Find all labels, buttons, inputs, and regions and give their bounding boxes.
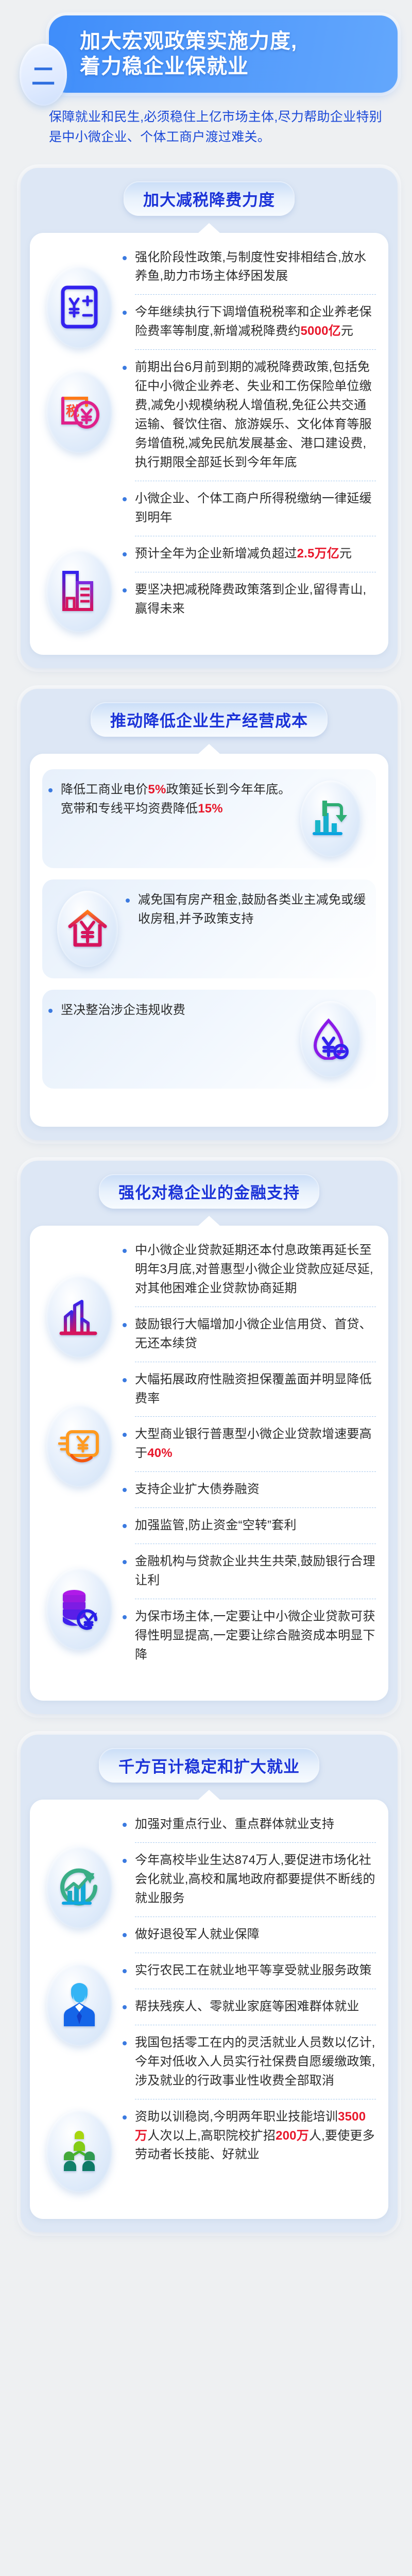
bullet-item: 加强对重点行业、重点群体就业支持 — [121, 1815, 376, 1834]
bullet-item: 金融机构与贷款企业共生共荣,鼓励银行合理让利 — [121, 1552, 376, 1590]
bullet-highlight: 5000亿 — [300, 324, 340, 338]
bullet-item: 实行农民工在就业地平等享受就业服务政策 — [121, 1961, 376, 1980]
section-title: 千方百计稳定和扩大就业 — [118, 1754, 300, 1777]
bullet-text: 我国包括零工在内的灵活就业人员数以亿计,今年对低收入人员实行社保费自愿缓缴政策,… — [135, 2036, 375, 2088]
bullet-divider — [135, 572, 376, 572]
bullet-highlight-2: 200万 — [276, 2129, 309, 2143]
bullet-item: 要坚决把减税降费政策落到企业,留得青山,赢得未来 — [121, 581, 376, 619]
bullet-item: 支持企业扩大债券融资 — [121, 1480, 376, 1499]
bullet-text: 帮扶残疾人、零就业家庭等困难群体就业 — [135, 1999, 359, 2013]
icon-column — [42, 1961, 121, 2091]
bullet-divider — [135, 1917, 376, 1917]
bullet-item: 大型商业银行普惠型小微企业贷款增速要高于40% — [121, 1425, 376, 1463]
bullet-highlight-2: 15% — [198, 802, 223, 816]
text-column: 大型商业银行普惠型小微企业贷款增速要高于40% 支持企业扩大债券融资 加强监管,… — [121, 1425, 376, 1535]
bullet-item: 鼓励银行大幅增加小微企业信用贷、首贷、无还本续贷 — [121, 1315, 376, 1353]
bullet-text: 做好退役军人就业保障 — [135, 1927, 260, 1941]
bullet-text: 鼓励银行大幅增加小微企业信用贷、首贷、无还本续贷 — [135, 1317, 372, 1350]
house-yen-icon — [57, 891, 118, 967]
bullet-text: 中小微企业贷款延期还本付息政策再延长至明年3月底,对普惠型小微企业贷款应延尽延,… — [135, 1243, 373, 1295]
leaf-yen-minus-icon — [300, 1001, 361, 1077]
bullet-text-tail: 元 — [341, 324, 353, 338]
bullet-text: 为保市场主体,一定要让中小微企业贷款可获得性明显提高,一定要让综合融资成本明显下… — [135, 1609, 375, 1662]
text-column: 前期出台6月前到期的减税降费政策,包括免征中小微企业养老、失业和工伤保险单位缴费… — [121, 358, 376, 528]
bullet-highlight: 40% — [147, 1446, 173, 1460]
hero-header: 二 加大宏观政策实施力度, 着力稳企业保就业 保障就业和民生,必须稳住上亿市场主… — [0, 0, 412, 147]
text-column: 加强对重点行业、重点群体就业支持 今年高校毕业生达874万人,要促进市场化社会化… — [121, 1815, 376, 1944]
bullet-text: 要坚决把减税降费政策落到企业,留得青山,赢得未来 — [135, 583, 366, 616]
text-column: 实行农民工在就业地平等享受就业服务政策 帮扶残疾人、零就业家庭等困难群体就业 我… — [121, 1961, 376, 2091]
hero-title-line1: 加大宏观政策实施力度, — [80, 29, 387, 54]
section-number-badge: 二 — [20, 44, 67, 106]
section-tax-reduction: 加大减税降费力度 — [21, 168, 398, 668]
item-row: 减免国有房产租金,鼓励各类业主减免或缓收房租,并予政策支持 — [42, 879, 376, 978]
icon-column — [42, 1552, 121, 1665]
bullet-item: 降低工商业电价5%政策延长到今年年底。宽带和专线平均资费降低15% — [46, 781, 295, 819]
bullet-text: 减免国有房产租金,鼓励各类业主减免或缓收房租,并予政策支持 — [138, 893, 366, 926]
section-stabilize-employment: 千方百计稳定和扩大就业 — [21, 1735, 398, 2232]
bullet-item: 大幅拓展政府性融资担保覆盖面并明显降低费率 — [121, 1370, 376, 1409]
bullet-divider — [135, 1362, 376, 1362]
infographic-page: 二 加大宏观政策实施力度, 着力稳企业保就业 保障就业和民生,必须稳住上亿市场主… — [0, 0, 412, 2253]
bullet-item: 为保市场主体,一定要让中小微企业贷款可获得性明显提高,一定要让综合融资成本明显下… — [121, 1607, 376, 1665]
bullet-item: 坚决整治涉企违规收费 — [46, 1001, 295, 1020]
bullet-item: 今年高校毕业生达874万人,要促进市场化社会化就业,高校和属地政府都要提供不断线… — [121, 1851, 376, 1908]
bullet-text: 加强监管,防止资金“空转”套利 — [135, 1518, 297, 1532]
item-row: 资助以训稳岗,今明两年职业技能培训3500万人次以上,高职院校扩招200万人,要… — [42, 2108, 376, 2165]
pointer-notch — [198, 1790, 220, 1800]
bullet-text: 加强对重点行业、重点群体就业支持 — [135, 1817, 334, 1831]
bullet-divider — [135, 1599, 376, 1599]
section-title-pill: 强化对稳企业的金融支持 — [99, 1174, 319, 1209]
bullet-text: 支持企业扩大债券融资 — [135, 1482, 260, 1496]
bullet-text: 资助以训稳岗,今明两年职业技能培训 — [135, 2110, 338, 2124]
bullet-divider — [135, 2025, 376, 2025]
bullet-item: 我国包括零工在内的灵活就业人员数以亿计,今年对低收入人员实行社保费自愿缓缴政策,… — [121, 2033, 376, 2091]
text-column: 预计全年为企业新增减负超过2.5万亿元 要坚决把减税降费政策落到企业,留得青山,… — [121, 545, 376, 619]
yen-calculator-icon — [46, 266, 112, 348]
bullet-item: 今年继续执行下调增值税税率和企业养老保险费率等制度,新增减税降费约5000亿元 — [121, 303, 376, 341]
bullet-divider — [135, 1307, 376, 1307]
icon-column — [42, 2108, 121, 2165]
bullet-divider — [135, 1471, 376, 1472]
icon-column — [295, 1001, 367, 1077]
hero-title-band: 加大宏观政策实施力度, 着力稳企业保就业 — [49, 15, 398, 93]
bullet-text: 坚决整治涉企违规收费 — [61, 1003, 185, 1017]
item-row: 强化阶段性政策,与制度性安排相结合,放水养鱼,助力市场主体纾困发展 今年继续执行… — [42, 248, 376, 342]
bullet-divider — [135, 1416, 376, 1417]
tax-yen-icon: 税 — [46, 370, 112, 453]
section-title: 强化对稳企业的金融支持 — [118, 1180, 300, 1203]
bullet-divider — [135, 349, 376, 350]
bullet-item: 前期出台6月前到期的减税降费政策,包括免征中小微企业养老、失业和工伤保险单位缴费… — [121, 358, 376, 472]
bar-chart-down-icon — [300, 781, 361, 857]
bullet-text: 前期出台6月前到期的减税降费政策,包括免征中小微企业养老、失业和工伤保险单位缴费… — [135, 360, 372, 469]
icon-column — [42, 1425, 121, 1535]
bullet-text: 强化阶段性政策,与制度性安排相结合,放水养鱼,助力市场主体纾困发展 — [135, 250, 366, 283]
section-card: 降低工商业电价5%政策延长到今年年底。宽带和专线平均资费降低15% — [30, 754, 388, 1127]
bullet-text: 今年高校毕业生达874万人,要促进市场化社会化就业,高校和属地政府都要提供不断线… — [135, 1853, 375, 1905]
section-title: 加大减税降费力度 — [143, 187, 275, 210]
bullet-divider — [135, 1507, 376, 1508]
text-column: 强化阶段性政策,与制度性安排相结合,放水养鱼,助力市场主体纾困发展 今年继续执行… — [121, 248, 376, 342]
text-column: 坚决整治涉企违规收费 — [46, 1001, 295, 1077]
bullet-item: 强化阶段性政策,与制度性安排相结合,放水养鱼,助力市场主体纾困发展 — [121, 248, 376, 286]
bullet-text: 预计全年为企业新增减负超过 — [135, 547, 297, 561]
section-lower-operating-cost: 推动降低企业生产经营成本 降低工商业电价5%政策延长到今年年底。宽带和专线平均资… — [21, 689, 398, 1140]
icon-column — [42, 248, 121, 342]
bullet-divider — [135, 536, 376, 536]
icon-column — [295, 781, 367, 857]
item-row: 税 前期出台6月前到期的减税降费政策,包括免征中小微企业养老、失业和工伤保险单位… — [42, 358, 376, 528]
item-row: 大型商业银行普惠型小微企业贷款增速要高于40% 支持企业扩大债券融资 加强监管,… — [42, 1425, 376, 1535]
section-title-pill: 千方百计稳定和扩大就业 — [99, 1748, 319, 1783]
bullet-item: 中小微企业贷款延期还本付息政策再延长至明年3月底,对普惠型小微企业贷款应延尽延,… — [121, 1241, 376, 1298]
item-row: 坚决整治涉企违规收费 — [42, 990, 376, 1089]
hero-title-line2: 着力稳企业保就业 — [80, 54, 387, 79]
text-column: 中小微企业贷款延期还本付息政策再延长至明年3月底,对普惠型小微企业贷款应延尽延,… — [121, 1241, 376, 1409]
section-title-pill: 加大减税降费力度 — [124, 181, 295, 216]
item-row: 实行农民工在就业地平等享受就业服务政策 帮扶残疾人、零就业家庭等困难群体就业 我… — [42, 1961, 376, 2091]
bullet-divider — [135, 481, 376, 481]
people-network-icon — [46, 2110, 112, 2192]
item-row: 加强对重点行业、重点群体就业支持 今年高校毕业生达874万人,要促进市场化社会化… — [42, 1815, 376, 1944]
item-row: 中小微企业贷款延期还本付息政策再延长至明年3月底,对普惠型小微企业贷款应延尽延,… — [42, 1241, 376, 1409]
section-card: 中小微企业贷款延期还本付息政策再延长至明年3月底,对普惠型小微企业贷款应延尽延,… — [30, 1226, 388, 1701]
bullet-text: 降低工商业电价 — [61, 783, 148, 796]
text-column: 减免国有房产租金,鼓励各类业主减免或缓收房租,并予政策支持 — [124, 891, 372, 967]
bullet-divider — [135, 294, 376, 295]
hero-subtitle: 保障就业和民生,必须稳住上亿市场主体,尽力帮助企业特别是中小微企业、个体工商户渡… — [49, 107, 388, 147]
bullet-highlight: 2.5万亿 — [297, 547, 339, 561]
text-column: 资助以训稳岗,今明两年职业技能培训3500万人次以上,高职院校扩招200万人,要… — [121, 2108, 376, 2165]
bullet-divider — [135, 1842, 376, 1843]
icon-column: 税 — [42, 358, 121, 528]
pointer-notch — [198, 744, 220, 754]
coins-yen-icon — [46, 1568, 112, 1650]
bullet-divider — [135, 1953, 376, 1953]
pointer-notch — [198, 1216, 220, 1226]
pointer-notch — [198, 223, 220, 233]
section-financial-support: 强化对稳企业的金融支持 — [21, 1161, 398, 1714]
bullet-text-mid: 人次以上,高职院校扩招 — [147, 2129, 276, 2143]
bullet-highlight: 5% — [148, 783, 166, 796]
bullet-text: 实行农民工在就业地平等享受就业服务政策 — [135, 1963, 372, 1977]
text-column: 金融机构与贷款企业共生共荣,鼓励银行合理让利 为保市场主体,一定要让中小微企业贷… — [121, 1552, 376, 1665]
item-row: 金融机构与贷款企业共生共荣,鼓励银行合理让利 为保市场主体,一定要让中小微企业贷… — [42, 1552, 376, 1665]
bullet-divider — [135, 1544, 376, 1544]
bullet-item: 预计全年为企业新增减负超过2.5万亿元 — [121, 545, 376, 564]
bullet-text: 金融机构与贷款企业共生共荣,鼓励银行合理让利 — [135, 1554, 375, 1587]
item-row: 预计全年为企业新增减负超过2.5万亿元 要坚决把减税降费政策落到企业,留得青山,… — [42, 545, 376, 619]
bullet-item: 小微企业、个体工商户所得税缴纳一律延缓到明年 — [121, 489, 376, 528]
icon-column — [42, 1241, 121, 1409]
bullet-item: 做好退役军人就业保障 — [121, 1925, 376, 1944]
section-title: 推动降低企业生产经营成本 — [110, 708, 308, 731]
bullet-text-tail: 元 — [339, 547, 352, 561]
bullet-divider — [135, 2099, 376, 2099]
bullet-item: 资助以训稳岗,今明两年职业技能培训3500万人次以上,高职院校扩招200万人,要… — [121, 2108, 376, 2165]
bullet-item: 帮扶残疾人、零就业家庭等困难群体就业 — [121, 1997, 376, 2016]
section-card: 加强对重点行业、重点群体就业支持 今年高校毕业生达874万人,要促进市场化社会化… — [30, 1800, 388, 2219]
building-chart-icon — [46, 550, 112, 632]
bullet-text: 大幅拓展政府性融资担保覆盖面并明显降低费率 — [135, 1372, 372, 1405]
section-title-pill: 推动降低企业生产经营成本 — [91, 702, 328, 737]
businessman-avatar-icon — [46, 1963, 112, 2046]
growth-arrow-chart-icon — [46, 1846, 112, 1928]
icon-column — [42, 545, 121, 619]
bullet-text: 小微企业、个体工商户所得税缴纳一律延缓到明年 — [135, 492, 372, 524]
item-row: 降低工商业电价5%政策延长到今年年底。宽带和专线平均资费降低15% — [42, 769, 376, 868]
section-card: 强化阶段性政策,与制度性安排相结合,放水养鱼,助力市场主体纾困发展 今年继续执行… — [30, 233, 388, 655]
city-buildings-icon — [46, 1275, 112, 1358]
yen-wallet-icon — [46, 1404, 112, 1487]
text-column: 降低工商业电价5%政策延长到今年年底。宽带和专线平均资费降低15% — [46, 781, 295, 857]
bullet-item: 减免国有房产租金,鼓励各类业主减免或缓收房租,并予政策支持 — [124, 891, 372, 929]
bullet-item: 加强监管,防止资金“空转”套利 — [121, 1516, 376, 1535]
icon-column — [51, 891, 124, 967]
bullet-divider — [135, 1989, 376, 1989]
icon-column — [42, 1815, 121, 1944]
